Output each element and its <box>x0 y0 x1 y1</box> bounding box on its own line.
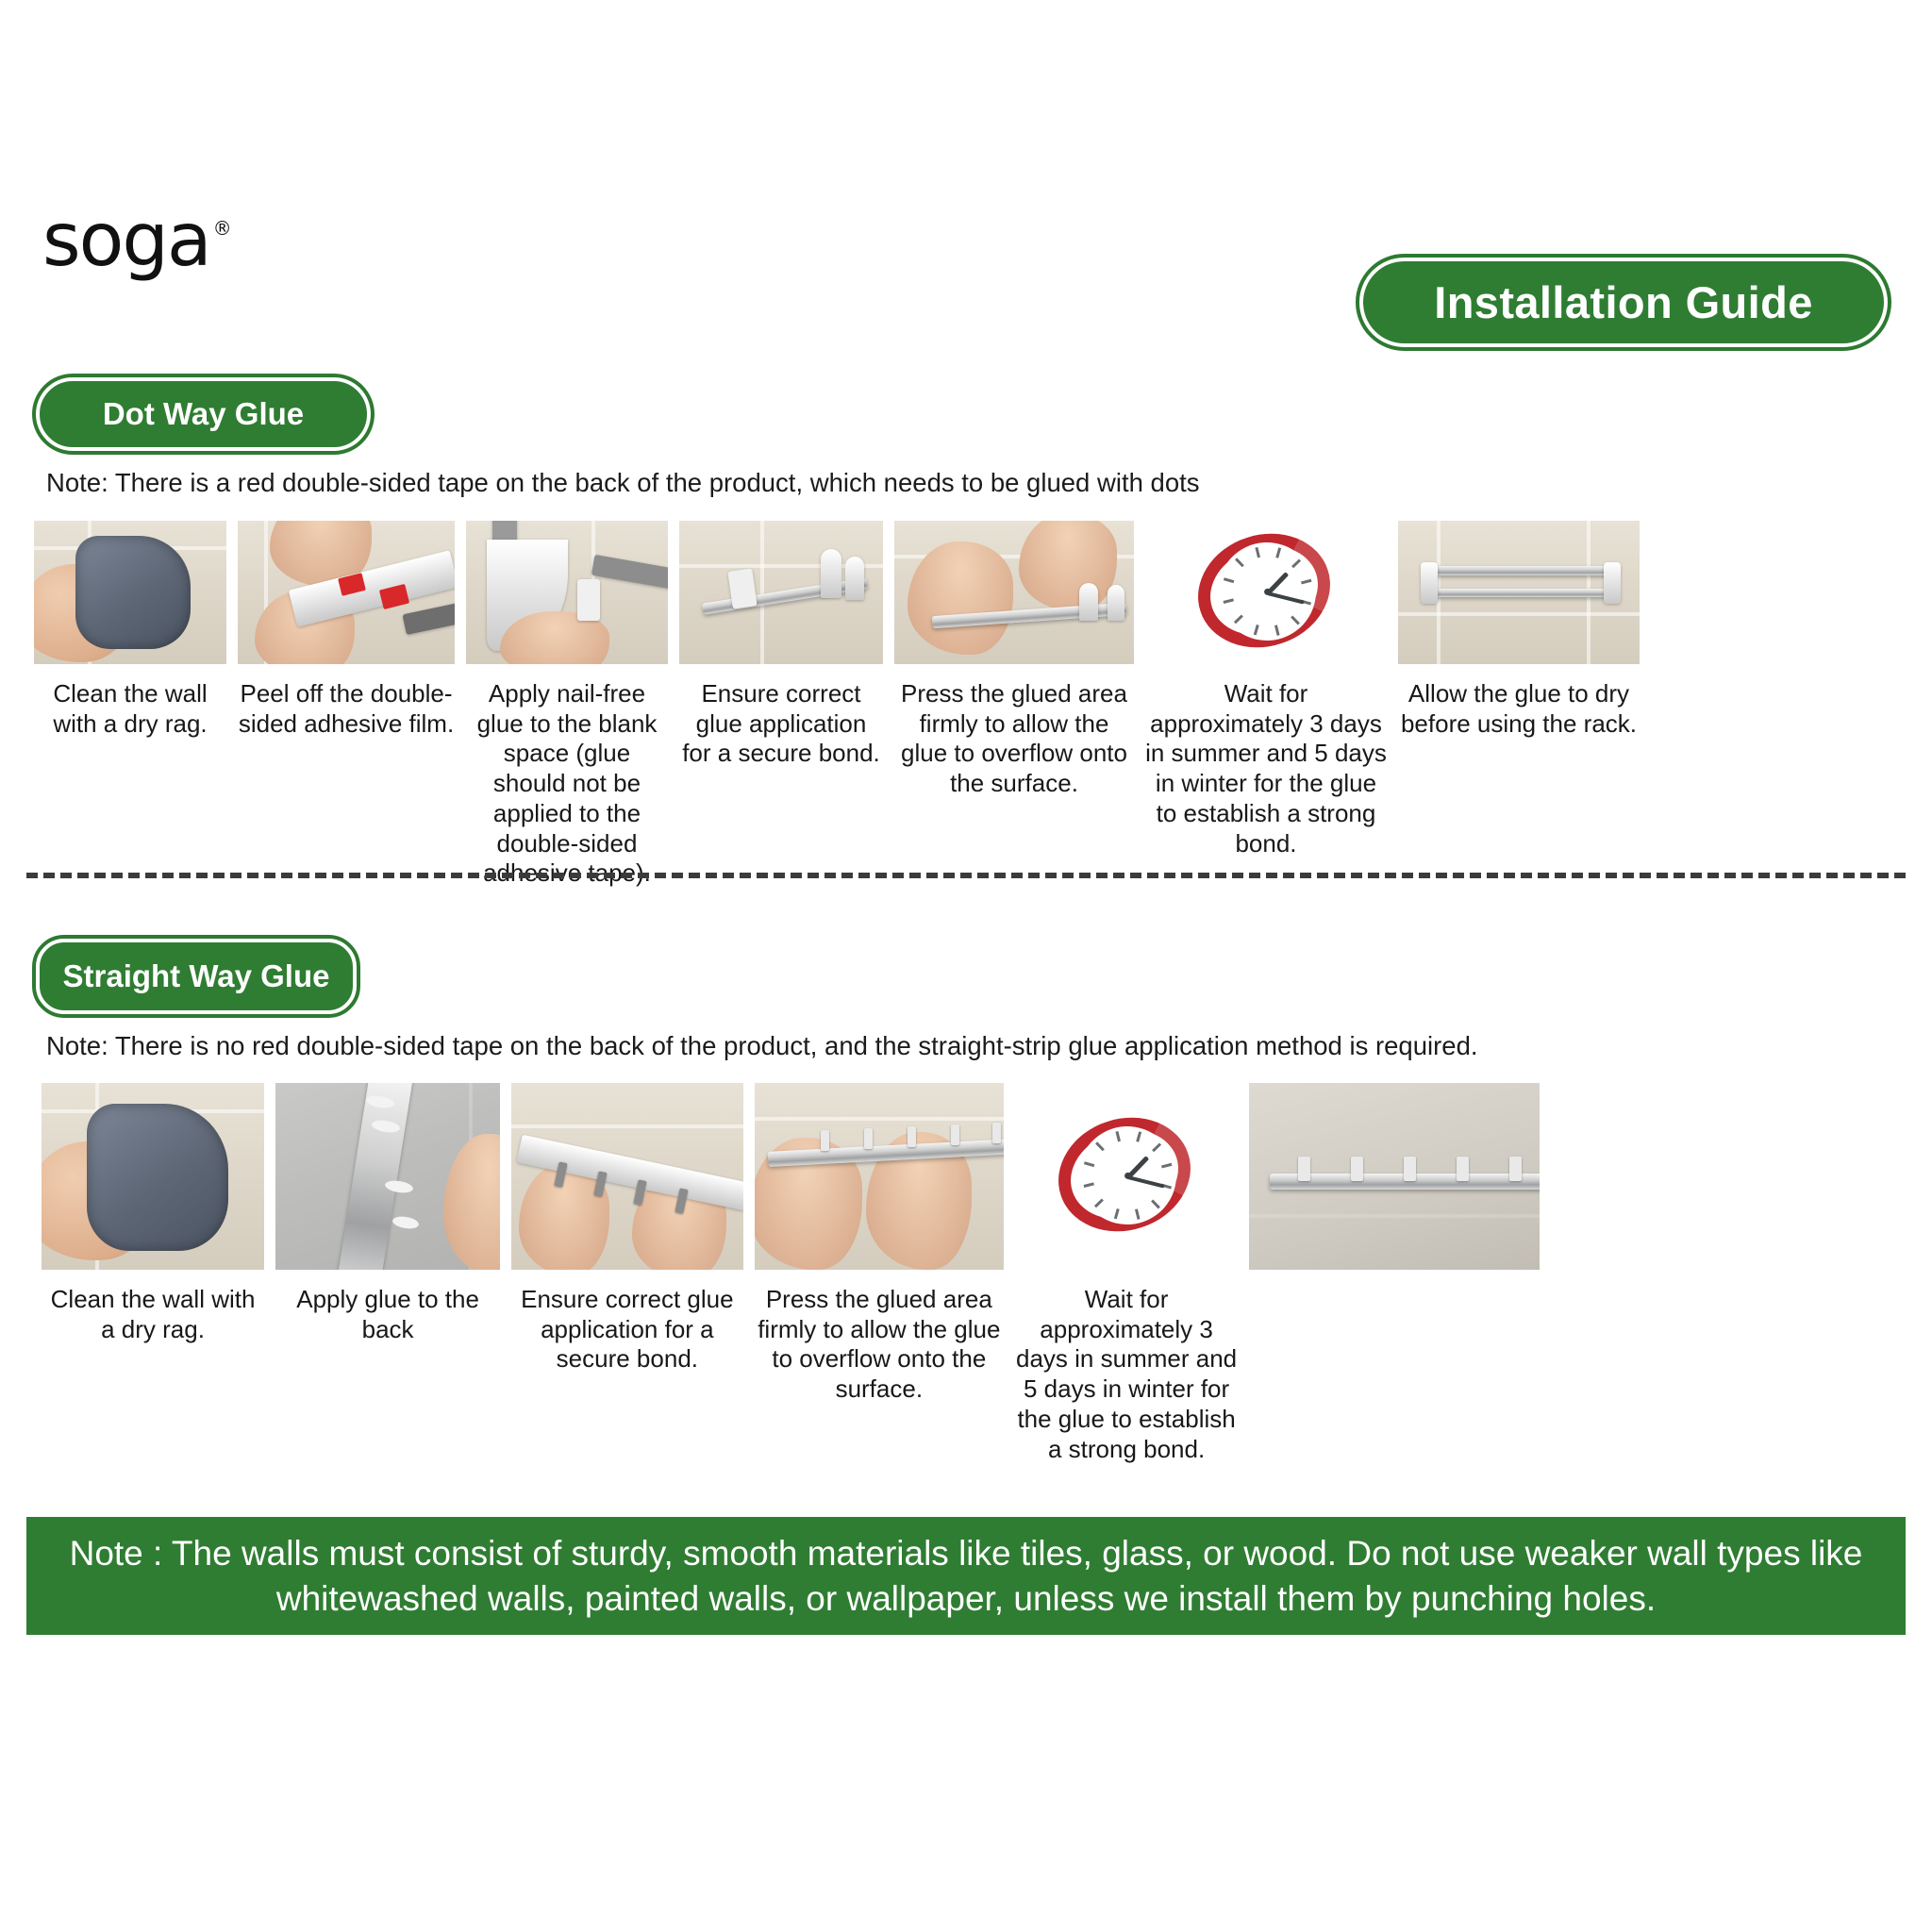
step-item: Apply nail-free glue to the blank space … <box>460 521 674 889</box>
step-image-glue-on-rail-back <box>275 1083 500 1270</box>
step-image-clean-wall-2 <box>42 1083 264 1270</box>
steps-row-straight-way-glue: Clean the wall with a dry rag. Apply glu… <box>36 1083 1545 1464</box>
clock-icon <box>1205 531 1327 654</box>
step-caption: Apply nail-free glue to the blank space … <box>466 679 668 889</box>
soga-logo: soga ® <box>42 206 230 275</box>
step-caption: Apply glue to the back <box>275 1285 500 1344</box>
section-note-dot-way-glue: Note: There is a red double-sided tape o… <box>46 468 1200 498</box>
steps-row-dot-way-glue: Clean the wall with a dry rag. Peel off … <box>28 521 1902 889</box>
step-caption: Ensure correct glue application for a se… <box>511 1285 743 1374</box>
step-item: Ensure correct glue application for a se… <box>506 1083 749 1374</box>
step-item: Apply glue to the back <box>270 1083 506 1344</box>
clock-icon <box>1065 1115 1188 1238</box>
footer-note-banner: Note : The walls must consist of sturdy,… <box>26 1517 1906 1635</box>
step-caption: Press the glued area firmly to allow the… <box>894 679 1134 799</box>
step-image-wait-clock-2 <box>1015 1083 1238 1270</box>
logo-wordmark: soga <box>42 206 210 275</box>
step-item: Ensure correct glue application for a se… <box>674 521 889 769</box>
section-note-straight-way-glue: Note: There is no red double-sided tape … <box>46 1031 1478 1061</box>
installation-guide-badge: Installation Guide <box>1359 258 1888 347</box>
step-item: Clean the wall with a dry rag. <box>28 521 232 739</box>
step-image-glue-check <box>679 521 883 664</box>
step-image-apply-glue-bracket <box>466 521 668 664</box>
section-badge-dot-way-glue: Dot Way Glue <box>36 377 371 451</box>
step-item: Allow the glue to dry before using the r… <box>1392 521 1645 739</box>
step-caption: Ensure correct glue application for a se… <box>679 679 883 769</box>
registered-trademark-icon: ® <box>213 217 230 240</box>
step-item <box>1243 1083 1545 1285</box>
step-caption: Wait for approximately 3 days in summer … <box>1145 679 1387 858</box>
step-item: Wait for approximately 3 days in summer … <box>1009 1083 1243 1464</box>
step-item: Wait for approximately 3 days in summer … <box>1140 521 1392 858</box>
page-header: soga ® Installation Guide <box>0 0 1932 311</box>
step-item: Peel off the double-sided adhesive film. <box>232 521 460 739</box>
step-caption: Wait for approximately 3 days in summer … <box>1015 1285 1238 1464</box>
step-caption: Allow the glue to dry before using the r… <box>1398 679 1640 739</box>
section-divider <box>26 873 1906 878</box>
step-item: Press the glued area firmly to allow the… <box>749 1083 1009 1405</box>
step-caption: Clean the wall with a dry rag. <box>42 1285 264 1344</box>
step-caption: Press the glued area firmly to allow the… <box>755 1285 1004 1405</box>
step-image-hold-rail-to-wall <box>511 1083 743 1270</box>
step-image-press-rail <box>755 1083 1004 1270</box>
step-image-wait-clock <box>1145 521 1387 664</box>
step-image-clean-wall <box>34 521 226 664</box>
step-item: Press the glued area firmly to allow the… <box>889 521 1140 799</box>
step-caption: Clean the wall with a dry rag. <box>34 679 226 739</box>
step-image-installed-rack <box>1398 521 1640 664</box>
installation-guide-page: soga ® Installation Guide Dot Way Glue N… <box>0 0 1932 1932</box>
step-image-peel-film <box>238 521 455 664</box>
step-image-press-rack <box>894 521 1134 664</box>
step-item: Clean the wall with a dry rag. <box>36 1083 270 1344</box>
section-badge-straight-way-glue: Straight Way Glue <box>36 939 357 1014</box>
step-caption: Peel off the double-sided adhesive film. <box>238 679 455 739</box>
step-image-installed-hook-rail <box>1249 1083 1540 1270</box>
